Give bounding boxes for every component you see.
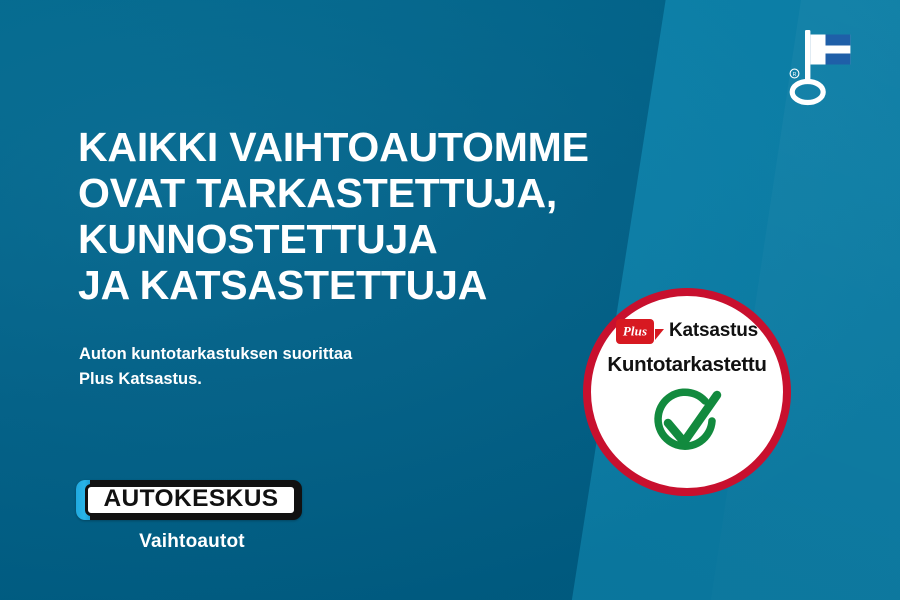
headline: KAIKKI VAIHTOAUTOMME OVAT TARKASTETTUJA,… — [78, 124, 678, 308]
plus-logo-box: Plus — [616, 319, 654, 344]
plus-pennant-icon — [655, 329, 664, 340]
autokeskus-logo[interactable]: AUTOKESKUS Vaihtoautot — [76, 480, 308, 553]
logo-tagline: Vaihtoautot — [76, 531, 308, 553]
badge-title: Kuntotarkastettu — [607, 353, 766, 377]
headline-line-4: JA KATSASTETTUJA — [78, 262, 678, 308]
subheadline-line-1: Auton kuntotarkastuksen suorittaa — [79, 342, 499, 367]
headline-line-2: OVAT TARKASTETTUJA, — [78, 170, 678, 216]
subheadline-line-2: Plus Katsastus. — [79, 367, 499, 392]
avainlippu-key-flag-icon: R — [786, 26, 856, 106]
headline-line-1: KAIKKI VAIHTOAUTOMME — [78, 124, 678, 170]
subheadline: Auton kuntotarkastuksen suorittaa Plus K… — [79, 342, 499, 392]
headline-line-3: KUNNOSTETTUJA — [78, 216, 678, 262]
license-plate-logo: AUTOKESKUS — [76, 480, 302, 520]
plate-face: AUTOKESKUS — [85, 484, 297, 516]
katsastus-wordmark: Katsastus — [669, 320, 758, 342]
plate-wordmark: AUTOKESKUS — [103, 487, 278, 513]
plus-logo-text: Plus — [623, 324, 647, 337]
svg-text:R: R — [793, 72, 797, 78]
green-check-circle-icon — [646, 385, 728, 468]
plus-katsastus-lockup: Plus Katsastus — [616, 318, 758, 344]
promo-banner: R KAIKKI VAIHTOAUTOMME OVAT TARKASTETTUJ… — [0, 0, 900, 600]
kuntotarkastettu-badge: Plus Katsastus Kuntotarkastettu — [583, 288, 791, 496]
